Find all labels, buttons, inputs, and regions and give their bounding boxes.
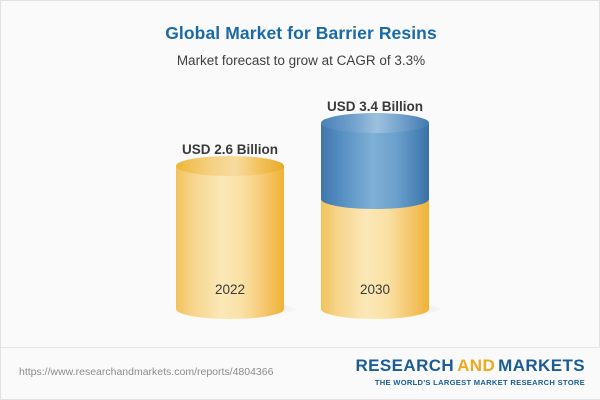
report-url[interactable]: https://www.researchandmarkets.com/repor… bbox=[19, 366, 273, 378]
bar-segment-growth bbox=[321, 123, 429, 199]
category-label-2030: 2030 bbox=[360, 282, 390, 297]
chart-footer: https://www.researchandmarkets.com/repor… bbox=[1, 347, 600, 399]
category-label-2022: 2022 bbox=[215, 282, 245, 297]
bar-value-label: USD 3.4 Billion bbox=[327, 99, 423, 114]
logo-word-and: AND bbox=[454, 356, 498, 375]
logo-word-research: RESEARCH bbox=[356, 356, 455, 375]
bar-segment-body bbox=[321, 123, 429, 199]
chart-canvas: Global Market for Barrier Resins Market … bbox=[0, 0, 600, 400]
plot-area: USD 2.6 Billion 2022 USD 3.4 Billion bbox=[1, 1, 600, 349]
research-and-markets-logo[interactable]: RESEARCHANDMARKETS THE WORLD'S LARGEST M… bbox=[356, 356, 586, 387]
bar-segment-cap bbox=[321, 113, 429, 133]
bar-segment-cap bbox=[176, 156, 284, 176]
logo-tagline: THE WORLD'S LARGEST MARKET RESEARCH STOR… bbox=[356, 378, 586, 387]
logo-word-markets: MARKETS bbox=[498, 356, 585, 375]
logo-wordmark: RESEARCHANDMARKETS bbox=[356, 356, 586, 376]
bar-value-label: USD 2.6 Billion bbox=[182, 142, 278, 157]
